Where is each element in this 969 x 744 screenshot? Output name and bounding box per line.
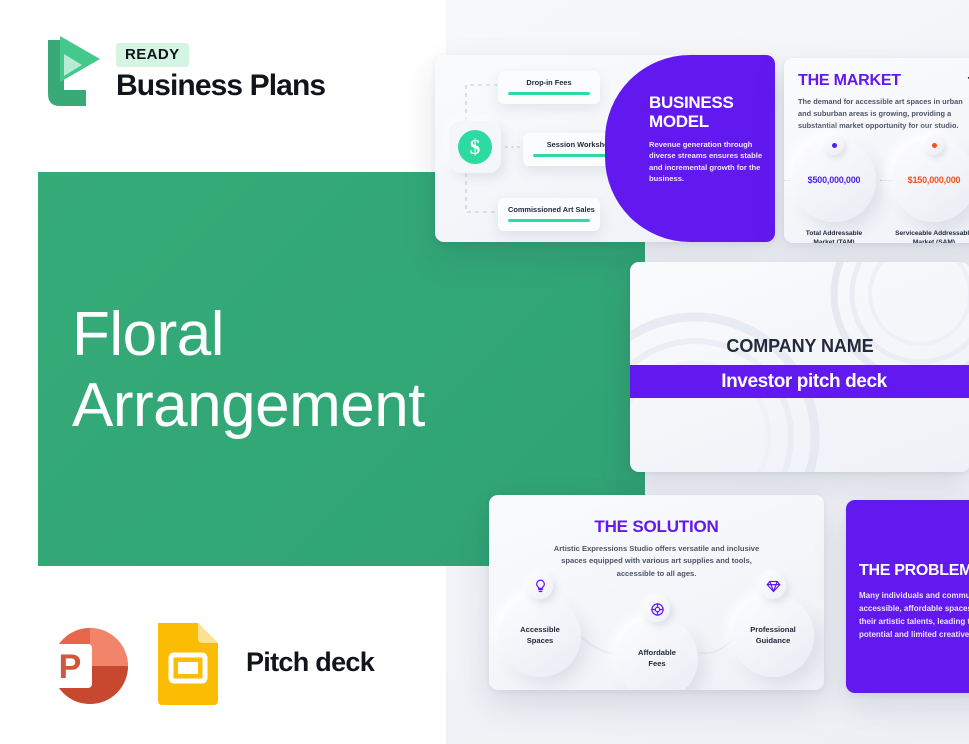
pillar-label: Professional Guidance [750, 625, 796, 647]
pillar-label: Accessible Spaces [520, 625, 560, 647]
company-subtitle: Investor pitch deck [721, 371, 887, 393]
dollar-sign-icon: $ [449, 121, 501, 173]
metric-dot-cap [824, 135, 844, 155]
slide-the-solution[interactable]: THE SOLUTION Artistic Expressions Studio… [489, 495, 824, 690]
hero-title-line2: Arrangement [72, 371, 492, 442]
business-model-body: Revenue generation through diverse strea… [649, 139, 763, 185]
format-row: P Pitch deck [40, 616, 374, 708]
pillar-label: Affordable Fees [638, 648, 676, 670]
business-model-item-0[interactable]: Drop-in Fees [498, 71, 600, 104]
brand-name: Business Plans [116, 69, 325, 103]
powerpoint-icon[interactable]: P [40, 616, 132, 708]
problem-body: Many individuals and communities lack ac… [859, 590, 969, 642]
metric-circle: $500,000,000 [792, 138, 876, 222]
caption-line1: Total Addressable [792, 229, 876, 238]
business-model-panel: BUSINESS MODEL Revenue generation throug… [605, 55, 775, 242]
market-metrics: $500,000,000 Total Addressable Market (T… [792, 138, 969, 243]
problem-title: THE PROBLEM [859, 562, 969, 580]
business-model-item-2[interactable]: Commissioned Art Sales [498, 198, 600, 231]
business-model-title: BUSINESS MODEL [649, 93, 763, 132]
brand-logo-text: READY Business Plans [116, 43, 325, 103]
caption-line1: Serviceable Addressable [892, 229, 969, 238]
pitch-deck-preview: READY Business Plans Floral Arrangement … [0, 0, 969, 744]
metric-caption: Total Addressable Market (TAM) [792, 229, 876, 243]
pillar-label-line2: Spaces [520, 636, 560, 647]
item-underline [508, 219, 590, 222]
title-line1: BUSINESS [649, 93, 763, 112]
caption-line2: Market (SAM) [892, 238, 969, 243]
item-label: Drop-in Fees [508, 78, 590, 87]
company-subtitle-band: Investor pitch deck [630, 365, 969, 398]
slide-company-name[interactable]: COMPANY NAME Investor pitch deck [630, 262, 969, 472]
solution-pillar-0[interactable]: Accessible Spaces [499, 595, 581, 677]
google-slides-icon[interactable] [154, 619, 222, 705]
market-body: The demand for accessible art spaces in … [798, 96, 964, 132]
svg-text:P: P [59, 648, 82, 686]
pillar-label-line1: Accessible [520, 625, 560, 636]
lightbulb-icon [527, 573, 553, 599]
market-metric-0[interactable]: $500,000,000 Total Addressable Market (T… [792, 138, 876, 243]
item-label: Commissioned Art Sales [508, 205, 590, 214]
pie-chart-icon [644, 596, 670, 622]
metric-caption: Serviceable Addressable Market (SAM) [892, 229, 969, 243]
pillar-label-line1: Affordable [638, 648, 676, 659]
play-arrow-logo-icon [38, 32, 104, 114]
ready-badge: READY [116, 43, 189, 67]
company-name: COMPANY NAME [630, 336, 969, 357]
diamond-icon [760, 573, 786, 599]
pillar-label-line2: Guidance [750, 636, 796, 647]
market-metric-1[interactable]: $150,000,000 Serviceable Addressable Mar… [892, 138, 969, 243]
item-underline [508, 92, 590, 95]
caption-line2: Market (TAM) [792, 238, 876, 243]
slide-the-market[interactable]: THE MARKET The demand for accessible art… [784, 58, 969, 243]
metric-value: $500,000,000 [808, 175, 861, 185]
title-line2: MODEL [649, 112, 763, 131]
metric-dot-cap [924, 135, 944, 155]
market-title: THE MARKET [798, 72, 901, 90]
solution-body: Artistic Expressions Studio offers versa… [549, 543, 764, 580]
solution-pillar-2[interactable]: Professional Guidance [732, 595, 814, 677]
hero-title-line1: Floral [72, 300, 492, 371]
metric-dot [932, 143, 937, 148]
brand-logo[interactable]: READY Business Plans [38, 32, 325, 114]
format-label: Pitch deck [246, 647, 374, 678]
pillar-label-line2: Fees [638, 659, 676, 670]
pillar-label-line1: Professional [750, 625, 796, 636]
solution-pillar-1[interactable]: Affordable Fees [616, 618, 698, 690]
slide-the-problem[interactable]: THE PROBLEM Many individuals and communi… [846, 500, 969, 693]
solution-title: THE SOLUTION [489, 517, 824, 537]
dollar-glyph: $ [458, 130, 492, 164]
slide-business-model[interactable]: $ Drop-in Fees Session Workshops Commiss… [435, 55, 775, 242]
metric-value: $150,000,000 [908, 175, 961, 185]
metric-dot [832, 143, 837, 148]
hero-title: Floral Arrangement [72, 300, 492, 441]
metric-circle: $150,000,000 [892, 138, 969, 222]
